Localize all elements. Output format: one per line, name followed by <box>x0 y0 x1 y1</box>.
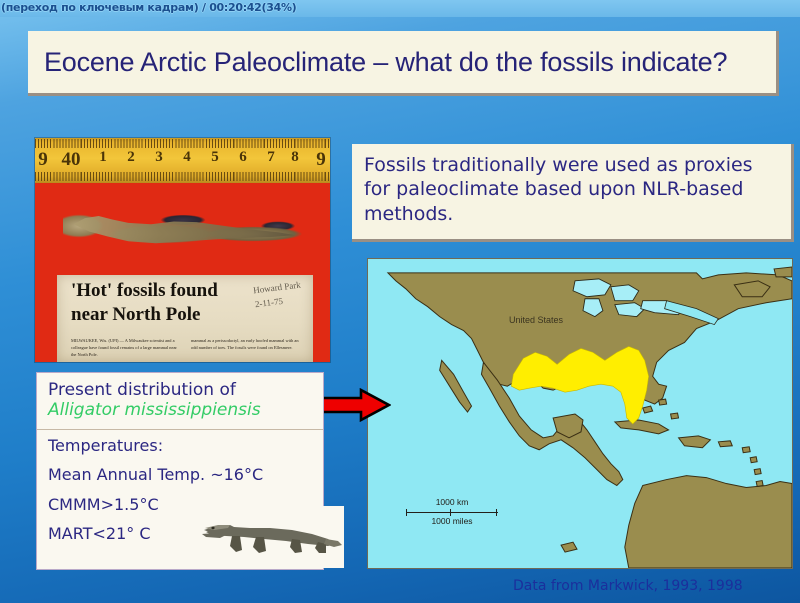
distribution-map: United States 1000 km 1000 miles <box>367 258 793 569</box>
ruler-ticks-bottom <box>35 172 330 181</box>
ruler-numbers: 9 40 1 2 3 4 5 6 7 8 9 <box>35 149 330 171</box>
newspaper-body: MILWAUKEE, Wis. (UPI) — A Milwaukee scie… <box>71 338 303 360</box>
playback-position-label: (переход по ключевым кадрам) / 00:20:42(… <box>1 1 296 14</box>
map-scale-bar: 1000 km 1000 miles <box>406 498 498 526</box>
ruler-number: 1 <box>99 149 107 166</box>
ruler-number: 9 <box>38 149 48 171</box>
map-country-label: United States <box>506 315 566 326</box>
ruler-number: 40 <box>62 149 81 171</box>
ruler-ticks-top <box>35 139 330 148</box>
map-scale-km-label: 1000 km <box>406 498 498 507</box>
newspaper-body-column: mammal as a perissodactyl, an early hoof… <box>191 338 303 360</box>
video-player-overlay-bar[interactable]: (переход по ключевым кадрам) / 00:20:42(… <box>0 0 800 17</box>
fossil-proxy-text-box: Fossils traditionally were used as proxi… <box>352 144 794 242</box>
map-scale-miles-label: 1000 miles <box>406 517 498 526</box>
page-title: Eocene Arctic Paleoclimate – what do the… <box>44 47 727 78</box>
ruler-number: 8 <box>291 149 299 166</box>
ruler-number: 4 <box>183 149 191 166</box>
fossil-photograph: 9 40 1 2 3 4 5 6 7 8 9 'Hot' fossils fou… <box>35 138 330 362</box>
ruler-image: 9 40 1 2 3 4 5 6 7 8 9 <box>35 138 330 183</box>
temperature-row-cmmm: CMMM>1.5°C <box>48 496 323 514</box>
temperature-list: Temperatures: Mean Annual Temp. ~16°C CM… <box>37 430 323 543</box>
fossil-proxy-text: Fossils traditionally were used as proxi… <box>364 153 779 226</box>
data-source-caption: Data from Markwick, 1993, 1998 <box>513 578 743 594</box>
fossil-jaw-specimen <box>63 204 305 256</box>
ruler-number: 3 <box>155 149 163 166</box>
presentation-slide: (переход по ключевым кадрам) / 00:20:42(… <box>0 0 800 603</box>
newspaper-handwriting: Howard Park 2-11-75 <box>253 278 312 328</box>
newspaper-clipping: 'Hot' fossils found near North Pole Howa… <box>57 275 313 362</box>
ruler-number: 9 <box>316 149 326 171</box>
temperature-heading: Temperatures: <box>48 437 323 455</box>
ruler-number: 5 <box>211 149 219 166</box>
ruler-number: 6 <box>239 149 247 166</box>
temperature-row-mat: Mean Annual Temp. ~16°C <box>48 466 323 484</box>
ruler-number: 2 <box>127 149 135 166</box>
info-box-header: Present distribution of Alligator missis… <box>37 373 323 427</box>
map-scale-line <box>406 509 498 516</box>
alligator-info-box: Present distribution of Alligator missis… <box>36 372 324 570</box>
ruler-number: 7 <box>267 149 275 166</box>
temperature-row-mart: MART<21° C <box>48 525 323 543</box>
slide-title-box: Eocene Arctic Paleoclimate – what do the… <box>28 31 779 96</box>
info-heading-line1: Present distribution of <box>48 380 323 400</box>
species-name-label: Alligator mississippiensis <box>48 400 323 421</box>
newspaper-body-column: MILWAUKEE, Wis. (UPI) — A Milwaukee scie… <box>71 338 183 360</box>
